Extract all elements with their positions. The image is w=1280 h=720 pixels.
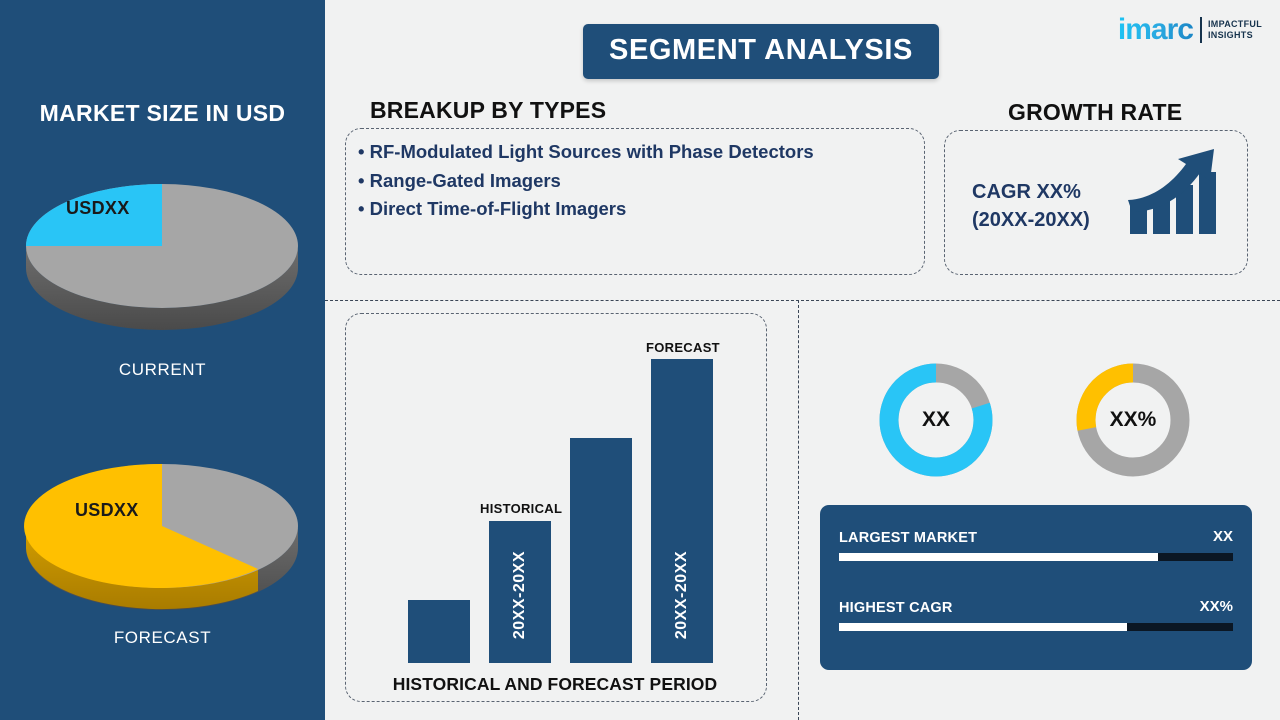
type-label-1: Range-Gated Imagers (370, 170, 561, 191)
list-item: • Direct Time-of-Flight Imagers (358, 195, 918, 224)
list-item: • Range-Gated Imagers (358, 167, 918, 196)
stat-progress-track (839, 623, 1233, 631)
cagr-text: CAGR XX% (20XX-20XX) (972, 178, 1090, 234)
bar-1-period-label: 20XX-20XX (511, 551, 529, 639)
header: SEGMENT ANALYSIS imarc IMPACTFUL INSIGHT… (325, 0, 1280, 90)
bar-1: 20XX-20XX (489, 521, 551, 663)
forecast-pie-slice-label: USDXX (75, 500, 139, 521)
bar-chart: 20XX-20XX 20XX-20XX HISTORICAL FORECAST (408, 359, 728, 663)
stat-progress-fill (839, 553, 1158, 561)
forecast-market-size-pie: USDXX (20, 430, 305, 610)
logo-divider (1200, 17, 1202, 43)
imarc-logo[interactable]: imarc IMPACTFUL INSIGHTS (1118, 12, 1262, 48)
cagr-line2: (20XX-20XX) (972, 206, 1090, 234)
market-share-donut-label: XX (878, 362, 994, 478)
stat-value: XX% (1200, 598, 1233, 615)
cagr-line1: CAGR XX% (972, 178, 1090, 206)
logo-tagline: IMPACTFUL INSIGHTS (1208, 19, 1262, 41)
stat-label: HIGHEST CAGR (839, 600, 953, 616)
vertical-divider (798, 300, 799, 720)
forecast-pie-svg (20, 430, 305, 610)
type-label-0: RF-Modulated Light Sources with Phase De… (370, 141, 814, 162)
growth-bars-arrow-icon (1126, 142, 1226, 247)
market-size-panel: MARKET SIZE IN USD USDXX CURRENT (0, 0, 325, 720)
types-list: • RF-Modulated Light Sources with Phase … (358, 138, 918, 224)
bar-3: 20XX-20XX (651, 359, 713, 663)
historical-annotation: HISTORICAL (480, 501, 562, 516)
growth-rate-heading: GROWTH RATE (1008, 99, 1182, 126)
stat-value: XX (1213, 528, 1233, 545)
infographic-page: MARKET SIZE IN USD USDXX CURRENT (0, 0, 1280, 720)
bullet-icon: • (358, 141, 364, 162)
key-stats-panel: LARGEST MARKET XX HIGHEST CAGR XX% (820, 505, 1252, 670)
stat-progress-fill (839, 623, 1127, 631)
current-pie-svg (20, 150, 305, 330)
bar-0 (408, 600, 470, 663)
bullet-icon: • (358, 170, 364, 191)
market-share-donut: XX (878, 362, 994, 478)
market-size-title: MARKET SIZE IN USD (0, 100, 325, 127)
stat-progress-track (839, 553, 1233, 561)
horizontal-divider (325, 300, 1280, 301)
forecast-annotation: FORECAST (646, 340, 720, 355)
page-title: SEGMENT ANALYSIS (583, 24, 939, 79)
current-pie-caption: CURRENT (0, 360, 325, 380)
current-market-size-pie: USDXX (20, 150, 305, 330)
breakup-by-types-heading: BREAKUP BY TYPES (370, 97, 606, 124)
cagr-donut: XX% (1075, 362, 1191, 478)
bar-3-period-label: 20XX-20XX (673, 551, 691, 639)
logo-tagline-line1: IMPACTFUL (1208, 19, 1262, 30)
bar-2 (570, 438, 632, 663)
bullet-icon: • (358, 198, 364, 219)
type-label-2: Direct Time-of-Flight Imagers (370, 198, 627, 219)
forecast-pie-caption: FORECAST (0, 628, 325, 648)
bar-chart-axis-label: HISTORICAL AND FORECAST PERIOD (345, 674, 765, 695)
stat-label: LARGEST MARKET (839, 530, 977, 546)
logo-tagline-line2: INSIGHTS (1208, 30, 1262, 41)
list-item: • RF-Modulated Light Sources with Phase … (358, 138, 918, 167)
cagr-donut-label: XX% (1075, 362, 1191, 478)
current-pie-slice-label: USDXX (66, 198, 130, 219)
imarc-wordmark: imarc (1118, 15, 1193, 45)
